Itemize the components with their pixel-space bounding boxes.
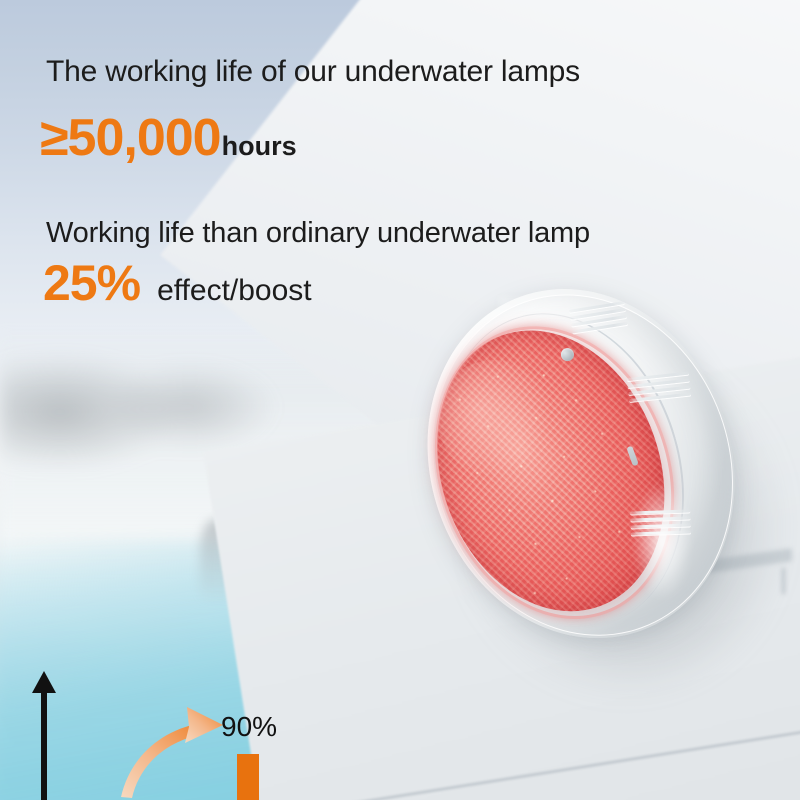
headline-line-1: The working life of our underwater lamps (46, 55, 580, 89)
stat-improvement: 25% effect/boost (43, 258, 312, 308)
stat-lifetime-unit: hours (222, 133, 297, 160)
stat-improvement-unit: effect/boost (157, 276, 312, 306)
curved-up-arrow-icon (115, 705, 245, 800)
stat-lifetime: ≥50,000 hours (40, 112, 297, 164)
comparison-bar-chart: 65% 90% Common pool lamp US pool lamp (0, 330, 430, 800)
headline-line-2: Working life than ordinary underwater la… (46, 217, 590, 250)
stat-improvement-number: 25% (43, 258, 140, 308)
stat-lifetime-number: ≥50,000 (40, 112, 221, 164)
y-axis (41, 690, 47, 800)
promo-banner: The working life of our underwater lamps… (0, 0, 800, 800)
lamp-specular-highlight (632, 481, 692, 601)
axis-arrow-up-icon (32, 671, 56, 693)
